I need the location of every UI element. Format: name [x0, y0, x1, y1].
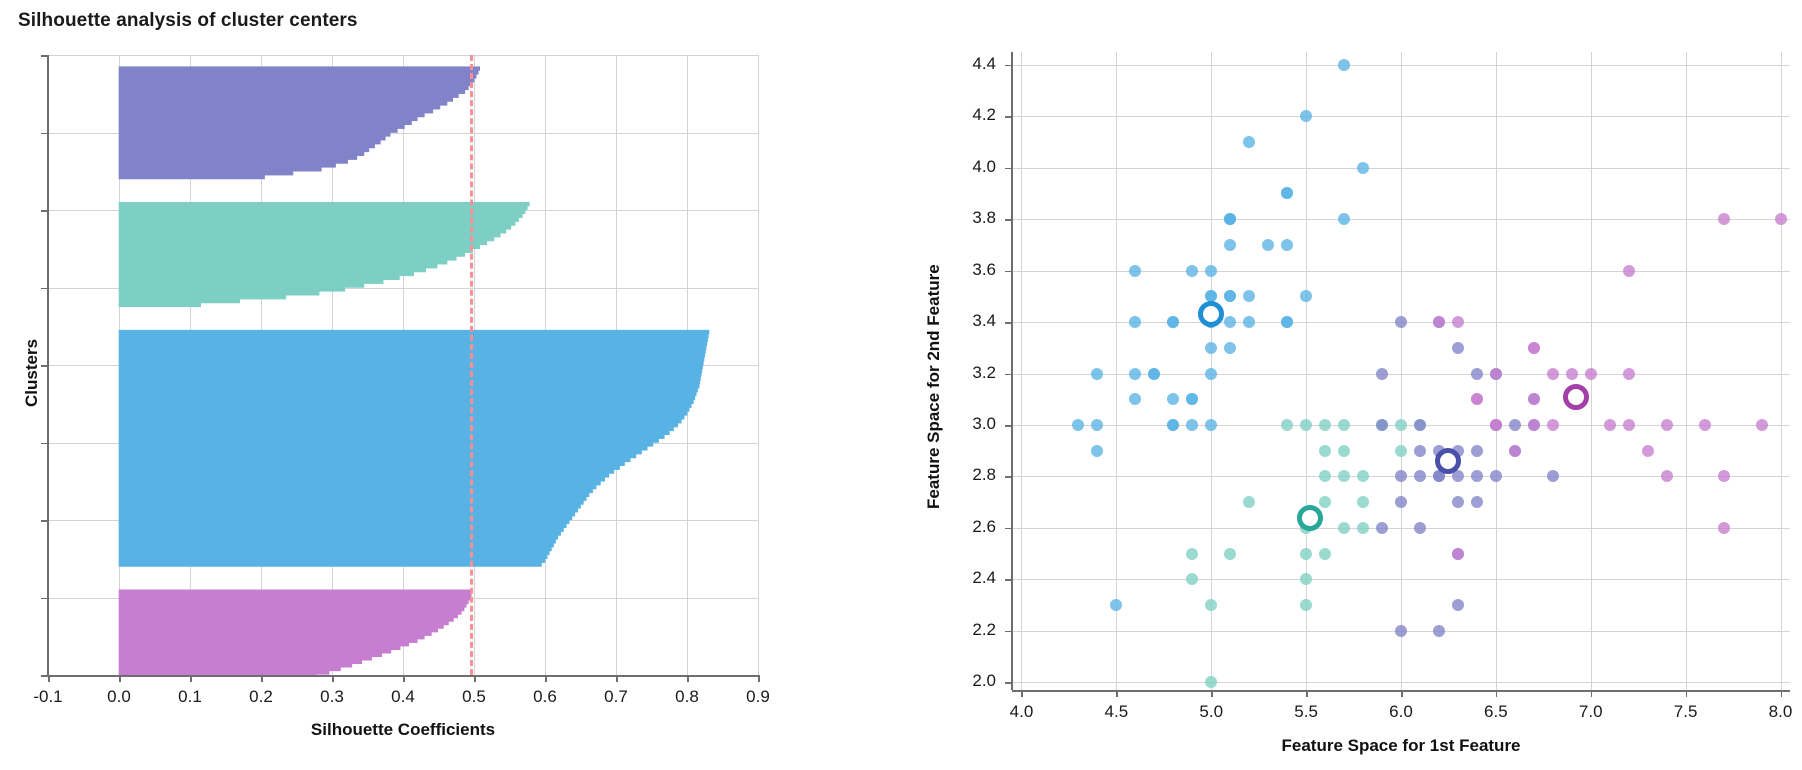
scatter-point	[1357, 162, 1369, 174]
x-tick-label: 5.0	[1181, 702, 1241, 722]
scatter-point	[1224, 342, 1236, 354]
scatter-point	[1319, 445, 1331, 457]
scatter-point	[1319, 548, 1331, 560]
gridline-vertical	[1306, 52, 1307, 690]
scatter-point	[1224, 548, 1236, 560]
scatter-point	[1718, 522, 1730, 534]
gridline-horizontal	[1012, 168, 1790, 169]
scatter-point	[1338, 445, 1350, 457]
scatter-point	[1205, 342, 1217, 354]
y-axis-line	[1011, 52, 1013, 690]
scatter-point	[1433, 625, 1445, 637]
scatter-point	[1414, 445, 1426, 457]
scatter-point	[1414, 419, 1426, 431]
scatter-point	[1528, 342, 1540, 354]
gridline-horizontal	[1012, 219, 1790, 220]
scatter-panel: 4.04.55.05.56.06.57.07.58.02.02.22.42.62…	[0, 0, 1802, 770]
scatter-point	[1471, 445, 1483, 457]
x-axis-label: Feature Space for 1st Feature	[1241, 736, 1561, 756]
scatter-point	[1585, 368, 1597, 380]
x-tick-label: 7.0	[1561, 702, 1621, 722]
gridline-horizontal	[1012, 579, 1790, 580]
scatter-point	[1129, 265, 1141, 277]
scatter-point	[1471, 496, 1483, 508]
scatter-point	[1490, 419, 1502, 431]
gridline-horizontal	[1012, 682, 1790, 683]
x-tick-label: 5.5	[1276, 702, 1336, 722]
x-axis-line	[1012, 690, 1790, 692]
x-tick-label: 7.5	[1656, 702, 1716, 722]
scatter-point	[1528, 419, 1540, 431]
y-tick-label: 3.8	[934, 208, 996, 228]
scatter-point	[1452, 548, 1464, 560]
scatter-point	[1357, 522, 1369, 534]
scatter-point	[1718, 213, 1730, 225]
scatter-point	[1509, 419, 1521, 431]
scatter-point	[1148, 368, 1160, 380]
gridline-vertical	[1686, 52, 1687, 690]
x-tick-label: 8.0	[1751, 702, 1802, 722]
y-tick-label: 2.6	[934, 517, 996, 537]
scatter-point	[1452, 316, 1464, 328]
scatter-point	[1205, 368, 1217, 380]
scatter-point	[1395, 625, 1407, 637]
scatter-point	[1775, 213, 1787, 225]
y-tick-label: 2.4	[934, 568, 996, 588]
gridline-vertical	[1021, 52, 1022, 690]
scatter-point	[1091, 368, 1103, 380]
scatter-point	[1395, 419, 1407, 431]
x-tick-label: 4.0	[991, 702, 1051, 722]
center-cluster-1	[1297, 505, 1323, 531]
scatter-point	[1376, 368, 1388, 380]
scatter-point	[1623, 265, 1635, 277]
scatter-point	[1395, 316, 1407, 328]
scatter-point	[1205, 265, 1217, 277]
scatter-point	[1471, 368, 1483, 380]
scatter-point	[1262, 239, 1274, 251]
scatter-point	[1623, 368, 1635, 380]
scatter-point	[1452, 599, 1464, 611]
scatter-point	[1338, 522, 1350, 534]
x-tick-label: 6.5	[1466, 702, 1526, 722]
scatter-point	[1433, 316, 1445, 328]
x-tick-label: 4.5	[1086, 702, 1146, 722]
scatter-point	[1338, 419, 1350, 431]
gridline-horizontal	[1012, 528, 1790, 529]
scatter-point	[1376, 419, 1388, 431]
gridline-vertical	[1781, 52, 1782, 690]
y-axis-label: Feature Space for 2nd Feature	[924, 264, 944, 509]
y-tick-label: 4.2	[934, 105, 996, 125]
scatter-point	[1509, 445, 1521, 457]
scatter-point	[1756, 419, 1768, 431]
scatter-point	[1414, 522, 1426, 534]
scatter-point	[1547, 419, 1559, 431]
scatter-point	[1186, 548, 1198, 560]
scatter-point	[1281, 239, 1293, 251]
center-cluster-3	[1563, 384, 1589, 410]
scatter-point	[1661, 419, 1673, 431]
gridline-vertical	[1401, 52, 1402, 690]
scatter-point	[1319, 419, 1331, 431]
scatter-point	[1490, 368, 1502, 380]
scatter-point	[1452, 342, 1464, 354]
scatter-point	[1699, 419, 1711, 431]
scatter-point	[1642, 445, 1654, 457]
scatter-point	[1129, 368, 1141, 380]
y-tick-label: 2.0	[934, 671, 996, 691]
y-tick-label: 2.2	[934, 620, 996, 640]
scatter-point	[1338, 59, 1350, 71]
scatter-point	[1300, 548, 1312, 560]
gridline-horizontal	[1012, 65, 1790, 66]
scatter-point	[1376, 522, 1388, 534]
scatter-point	[1395, 445, 1407, 457]
scatter-point	[1718, 470, 1730, 482]
scatter-point	[1186, 265, 1198, 277]
scatter-point	[1623, 419, 1635, 431]
figure-root: Silhouette analysis of cluster centers -…	[0, 0, 1802, 770]
y-tick-label: 4.4	[934, 54, 996, 74]
scatter-point	[1547, 368, 1559, 380]
y-tick-label: 4.0	[934, 157, 996, 177]
gridline-horizontal	[1012, 116, 1790, 117]
x-tick-label: 6.0	[1371, 702, 1431, 722]
scatter-point	[1566, 368, 1578, 380]
gridline-vertical	[1116, 52, 1117, 690]
scatter-point	[1604, 419, 1616, 431]
